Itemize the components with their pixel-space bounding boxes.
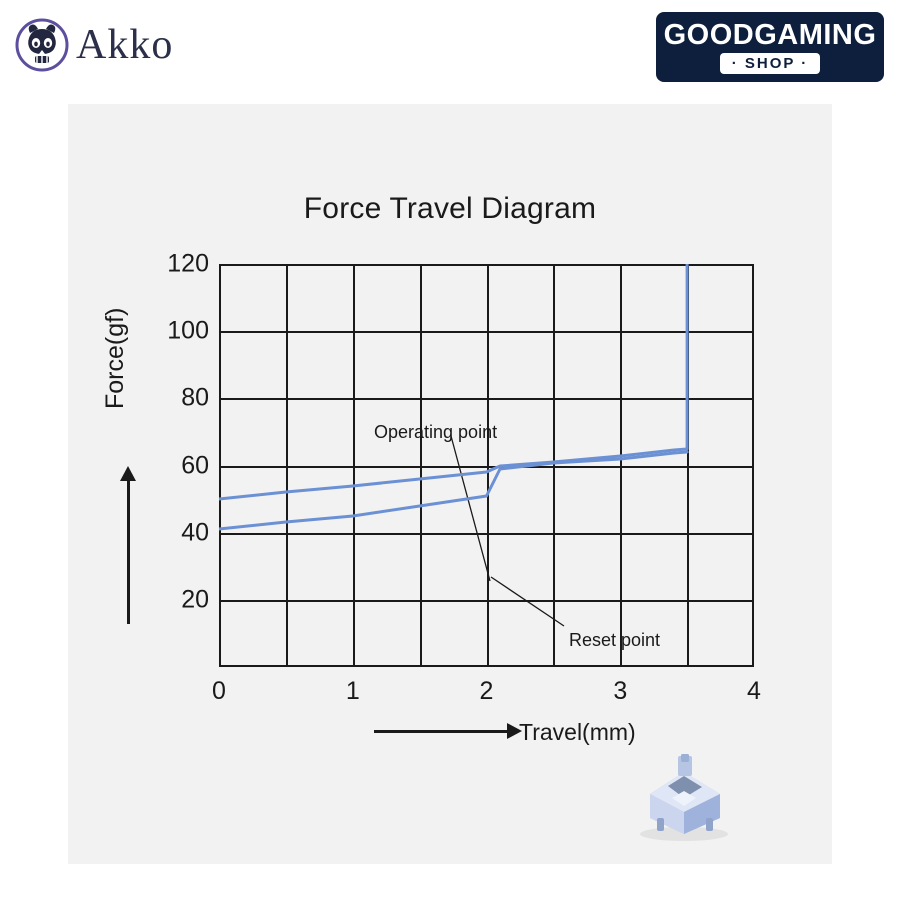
chart-title: Force Travel Diagram — [68, 192, 832, 226]
y-axis-tick: 80 — [181, 384, 209, 413]
y-axis-arrow-icon — [127, 479, 130, 624]
akko-switch-photo — [624, 742, 744, 842]
y-axis-tick: 100 — [167, 317, 209, 346]
y-axis-label: Force(gf) — [101, 308, 130, 409]
force-travel-curves — [219, 264, 754, 667]
x-axis-tick: 1 — [346, 677, 360, 706]
goodgaming-shop-logo: GOODGAMING · SHOP · — [656, 12, 884, 82]
x-axis-tick: 3 — [613, 677, 627, 706]
y-axis-tick: 20 — [181, 586, 209, 615]
x-axis-tick: 0 — [212, 677, 226, 706]
akko-cat-skull-icon — [14, 17, 70, 73]
y-axis-tick: 120 — [167, 250, 209, 279]
akko-brand-text: Akko — [76, 21, 173, 69]
x-axis-tick: 4 — [747, 677, 761, 706]
y-axis-tick: 60 — [181, 451, 209, 480]
y-axis-tick: 40 — [181, 518, 209, 547]
goodgaming-text: GOODGAMING — [664, 20, 877, 50]
product-image-panel: Force Travel Diagram 120 100 80 60 40 20… — [68, 104, 832, 864]
x-axis-arrow-icon — [374, 730, 507, 733]
x-axis-tick: 2 — [480, 677, 494, 706]
shop-text: · SHOP · — [720, 53, 821, 74]
akko-brand-logo: Akko — [14, 10, 224, 80]
force-travel-chart: 120 100 80 60 40 20 0 1 2 3 4 Force(gf) … — [219, 264, 754, 667]
page-header: Akko GOODGAMING · SHOP · — [0, 0, 900, 100]
x-axis-label: Travel(mm) — [519, 719, 636, 746]
